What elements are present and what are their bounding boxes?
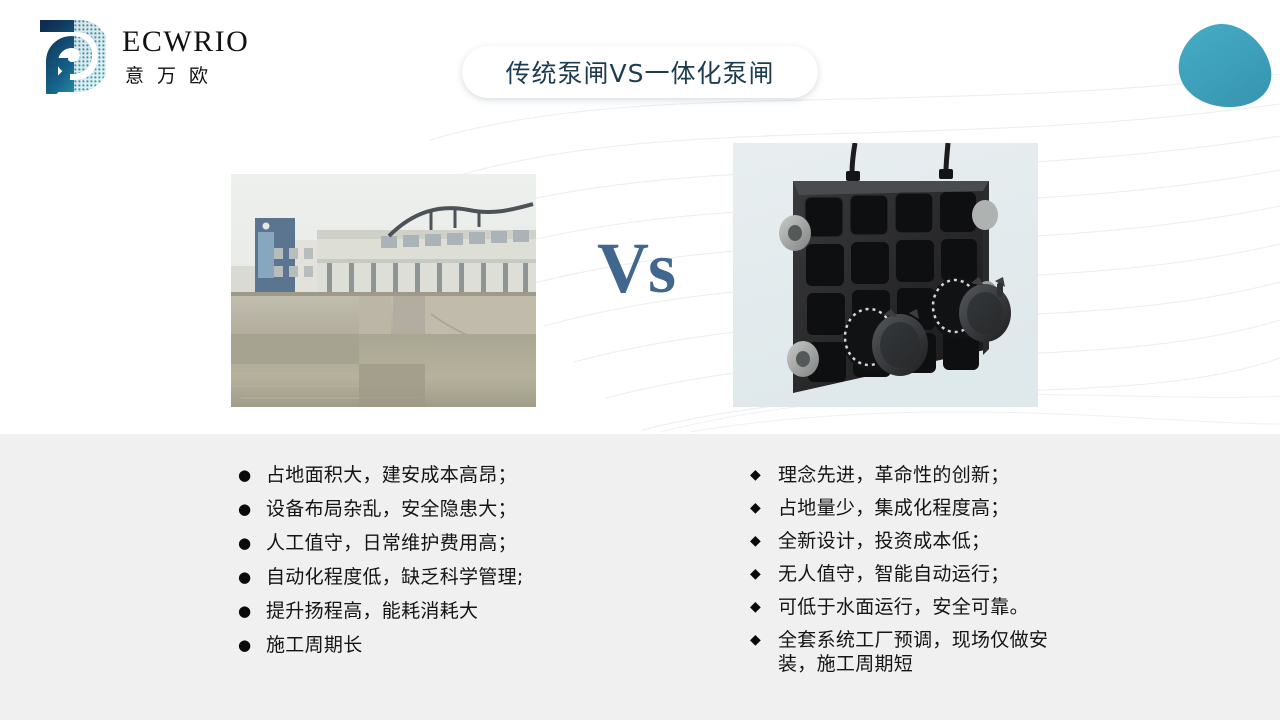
- list-item: ◆ 无人值守，智能自动运行；: [750, 562, 1050, 586]
- integrated-pump-gate-render: [733, 143, 1038, 407]
- vs-label: Vs: [578, 232, 694, 304]
- bullet-dot-icon: ●: [238, 497, 266, 521]
- list-item-label: 自动化程度低，缺乏科学管理;: [266, 565, 524, 589]
- traditional-pump-gate-photo: [231, 174, 536, 407]
- list-item: ◆ 理念先进，革命性的创新；: [750, 463, 1050, 487]
- list-item: ◆ 全套系统工厂预调，现场仅做安 装，施工周期短: [750, 628, 1050, 676]
- list-item: ◆ 可低于水面运行，安全可靠。: [750, 595, 1050, 619]
- bullet-dot-icon: ●: [238, 565, 266, 589]
- list-item: ◆ 占地量少，集成化程度高；: [750, 496, 1050, 520]
- bullet-dot-icon: ●: [238, 531, 266, 555]
- list-item: ● 占地面积大，建安成本高昂；: [238, 463, 568, 487]
- slide-root: ECWRIO 意万欧 传统泵闸VS一体化泵闸: [0, 0, 1280, 720]
- list-item-label: 占地量少，集成化程度高；: [778, 496, 1010, 520]
- list-item: ● 施工周期长: [238, 633, 568, 657]
- list-item: ● 人工值守，日常维护费用高；: [238, 531, 568, 555]
- list-item-label: 全新设计，投资成本低；: [778, 529, 990, 553]
- list-item-label: 施工周期长: [266, 633, 363, 657]
- brand-name-cn: 意万欧: [122, 61, 249, 88]
- bullet-diamond-icon: ◆: [750, 529, 778, 553]
- list-item: ● 设备布局杂乱，安全隐患大；: [238, 497, 568, 521]
- integrated-advantages-list: ◆ 理念先进，革命性的创新； ◆ 占地量少，集成化程度高； ◆ 全新设计，投资成…: [750, 463, 1050, 685]
- list-item-label: 提升扬程高，能耗消耗大: [266, 599, 478, 623]
- list-item-label: 人工值守，日常维护费用高；: [266, 531, 517, 555]
- bullet-diamond-icon: ◆: [750, 562, 778, 586]
- list-item-label: 设备布局杂乱，安全隐患大；: [266, 497, 517, 521]
- bullet-diamond-icon: ◆: [750, 628, 778, 652]
- list-item: ● 提升扬程高，能耗消耗大: [238, 599, 568, 623]
- bullet-diamond-icon: ◆: [750, 463, 778, 487]
- list-item-label: 无人值守，智能自动运行；: [778, 562, 1010, 586]
- list-item-label: 可低于水面运行，安全可靠。: [778, 595, 1029, 619]
- page-title: 传统泵闸VS一体化泵闸: [506, 54, 775, 90]
- bullet-dot-icon: ●: [238, 463, 266, 487]
- list-item-label: 全套系统工厂预调，现场仅做安 装，施工周期短: [778, 628, 1048, 676]
- brand-logo: ECWRIO 意万欧: [34, 20, 249, 94]
- bullet-dot-icon: ●: [238, 599, 266, 623]
- list-item-label: 理念先进，革命性的创新；: [778, 463, 1010, 487]
- bullet-diamond-icon: ◆: [750, 595, 778, 619]
- list-item: ◆ 全新设计，投资成本低；: [750, 529, 1050, 553]
- slide-title-pill: 传统泵闸VS一体化泵闸: [462, 46, 818, 98]
- ecwrio-swirl-logo-icon: [34, 20, 106, 94]
- list-item: ● 自动化程度低，缺乏科学管理;: [238, 565, 568, 589]
- brand-name-en: ECWRIO: [122, 26, 249, 58]
- teal-blob-decoration: [1178, 22, 1274, 108]
- content-band: [0, 434, 1280, 720]
- bullet-diamond-icon: ◆: [750, 496, 778, 520]
- bullet-dot-icon: ●: [238, 633, 266, 657]
- list-item-label: 占地面积大，建安成本高昂；: [266, 463, 517, 487]
- traditional-drawbacks-list: ● 占地面积大，建安成本高昂； ● 设备布局杂乱，安全隐患大； ● 人工值守，日…: [238, 463, 568, 667]
